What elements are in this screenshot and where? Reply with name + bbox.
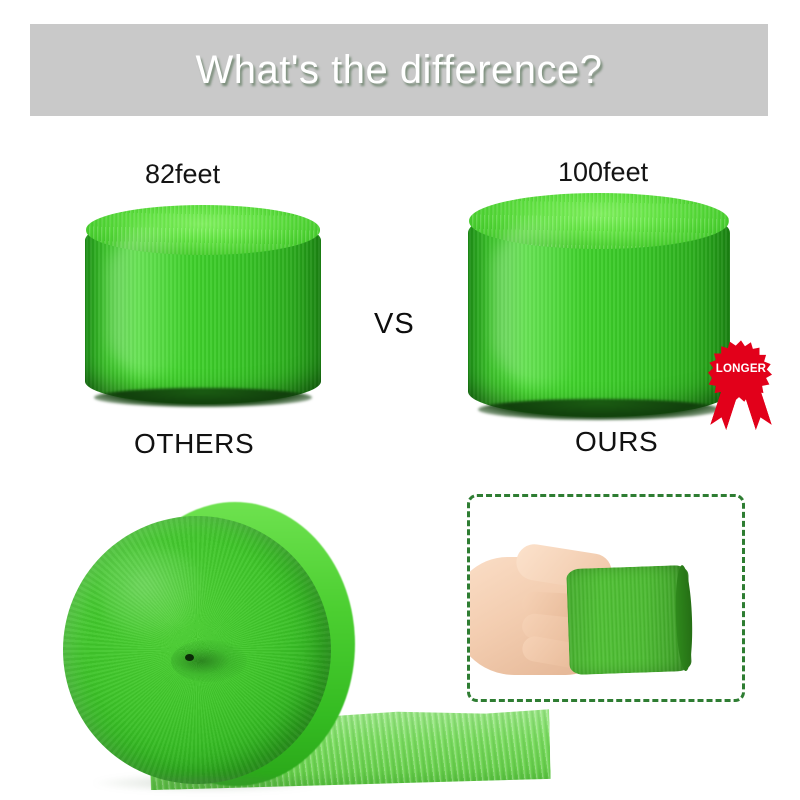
brand-label-others: OTHERS xyxy=(134,428,254,460)
page-title: What's the difference? xyxy=(195,48,602,93)
longer-badge: LONGER xyxy=(702,339,780,431)
held-roll-rim xyxy=(674,565,694,671)
measurement-label-others: 82feet xyxy=(145,159,220,190)
roll-core-hole xyxy=(185,654,194,661)
held-product-roll xyxy=(566,565,692,675)
vs-label: VS xyxy=(374,308,415,341)
brand-label-ours: OURS xyxy=(575,426,658,458)
roll-top-face xyxy=(469,193,729,249)
roll-bottom-rim xyxy=(94,388,311,407)
product-roll-others xyxy=(85,214,321,404)
roll-face-sheen xyxy=(99,546,209,642)
product-roll-ours xyxy=(468,203,730,417)
hand-holding-product-inset xyxy=(467,494,745,702)
roll-ground-shadow xyxy=(93,774,323,792)
roll-top-face xyxy=(86,205,321,254)
header-banner: What's the difference? xyxy=(30,24,768,116)
roll-core-swirl xyxy=(171,640,247,682)
product-roll-end-view xyxy=(63,500,361,790)
measurement-label-ours: 100feet xyxy=(558,157,648,188)
roll-bottom-rim xyxy=(478,399,719,420)
badge-label: LONGER xyxy=(702,363,780,375)
